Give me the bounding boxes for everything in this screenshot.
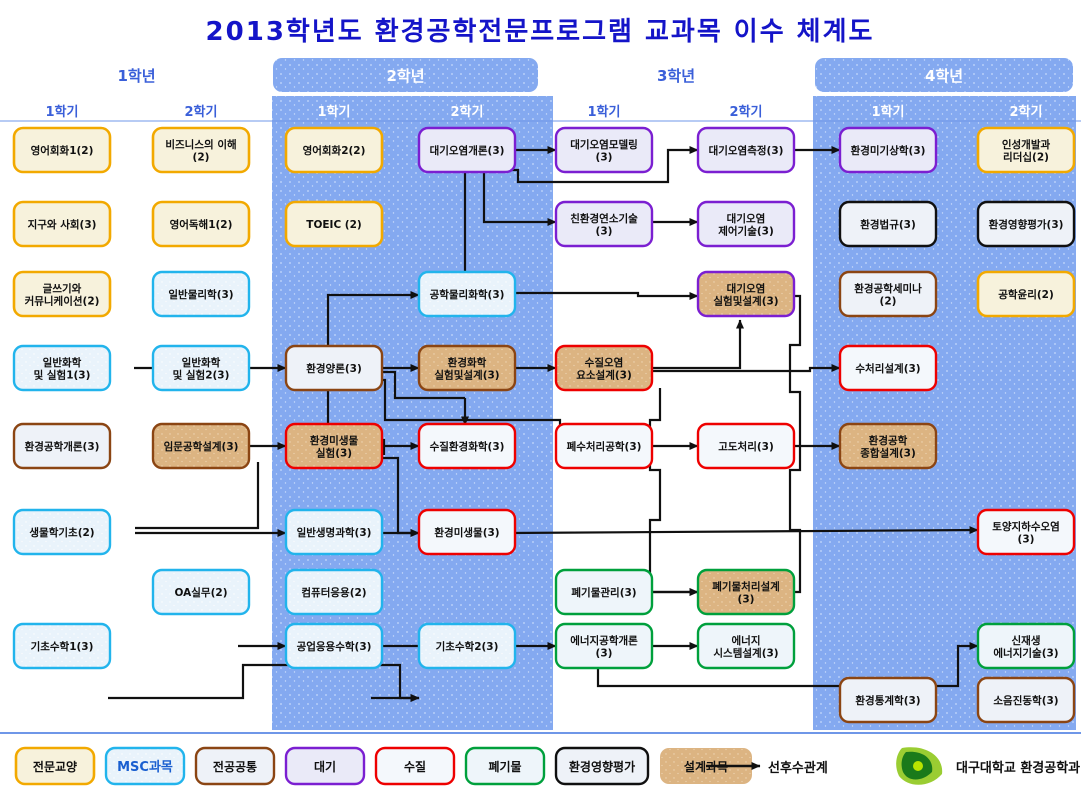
course-node-label: 환경법규(3) [860, 218, 916, 231]
course-node[interactable]: 영어독해1(2) [153, 202, 249, 246]
legend-label: 전문교양 [33, 759, 77, 774]
course-node-label: 환경영향평가(3) [989, 218, 1064, 231]
course-node[interactable]: 신재생에너지기술(3) [978, 624, 1074, 668]
course-node-label: 대기오염모델링 [570, 138, 638, 151]
semester-label-1: 1학기 [46, 104, 79, 120]
course-node-label: 커뮤니케이션(2) [25, 295, 100, 308]
legend-item[interactable]: 폐기물 [466, 748, 544, 784]
course-node-label: 제어기술(3) [718, 225, 774, 238]
course-node[interactable]: 영어회화1(2) [14, 128, 110, 172]
course-node-label: 수처리설계(3) [855, 362, 920, 375]
semester-label-4: 2학기 [451, 104, 484, 120]
course-node[interactable]: 일반화학및 실험1(3) [14, 346, 110, 390]
course-node-label: 일반물리학(3) [168, 288, 233, 301]
course-node-label: 비즈니스의 이해 [165, 138, 236, 151]
course-node[interactable]: 일반화학및 실험2(3) [153, 346, 249, 390]
course-node[interactable]: 토양지하수오염(3) [978, 510, 1074, 554]
year-label-4: 4학년 [925, 67, 963, 85]
course-node-label: 영어회화2(2) [303, 144, 366, 157]
legend-item[interactable]: 수질 [376, 748, 454, 784]
course-node-label: 일반생명과학(3) [297, 526, 372, 539]
course-node-label: 대기오염개론(3) [430, 144, 505, 157]
course-node[interactable]: 글쓰기와커뮤니케이션(2) [14, 272, 110, 316]
course-node[interactable]: 환경공학종합설계(3) [840, 424, 936, 468]
course-node[interactable]: 환경미기상학(3) [840, 128, 936, 172]
course-node-label: 대기오염 [727, 282, 766, 295]
course-node-label: 토양지하수오염 [992, 520, 1060, 533]
course-node-label: 신재생 [1012, 634, 1041, 647]
course-node[interactable]: 폐수처리공학(3) [556, 424, 652, 468]
course-node[interactable]: 친환경연소기술(3) [556, 202, 652, 246]
course-node-label: 수질환경화학(3) [430, 440, 505, 453]
course-node[interactable]: 고도처리(3) [698, 424, 794, 468]
course-node[interactable]: 환경양론(3) [286, 346, 382, 390]
year-label-3: 3학년 [657, 67, 695, 85]
legend-item[interactable]: 전공공통 [196, 748, 274, 784]
legend-label: 전공공통 [213, 759, 257, 774]
course-node[interactable]: 대기오염실험및설계(3) [698, 272, 794, 316]
course-node-label: 환경공학세미나 [854, 282, 922, 295]
course-node[interactable]: 대기오염제어기술(3) [698, 202, 794, 246]
course-node-label: 기초수학2(3) [436, 640, 499, 653]
course-node-label: OA실무(2) [175, 586, 228, 599]
course-node[interactable]: 공학윤리(2) [978, 272, 1074, 316]
legend: 전문교양MSC과목전공공통대기수질폐기물환경영향평가설계과목선후수관계대구대학교… [16, 747, 1080, 784]
legend-item[interactable]: 대기 [286, 748, 364, 784]
course-node[interactable]: 컴퓨터응용(2) [286, 570, 382, 614]
course-node-label: 에너지공학개론 [570, 634, 638, 647]
semester-label-3: 1학기 [318, 104, 351, 120]
course-node-label: 생물학기초(2) [29, 526, 94, 539]
year-label-2: 2학년 [386, 67, 424, 85]
course-node-label: 환경통계학(3) [855, 694, 920, 707]
course-node-label: 실험및설계(3) [434, 369, 499, 382]
course-node[interactable]: 환경통계학(3) [840, 678, 936, 722]
course-node[interactable]: 임문공학설계(3) [153, 424, 249, 468]
course-node-label: (3) [596, 152, 613, 164]
logo-dot [913, 761, 923, 771]
course-node-label: 수질오염 [585, 357, 624, 369]
course-node-label: 대기오염 [727, 212, 766, 225]
course-node-label: (3) [596, 226, 613, 238]
course-node-label: (3) [596, 648, 613, 660]
course-node-label: 환경미생물 [310, 434, 359, 447]
semester-label-5: 1학기 [588, 104, 621, 120]
course-node-label: 일반화학 [182, 356, 221, 369]
course-node-label: 지구와 사회(3) [28, 218, 97, 231]
university-logo: 대구대학교 환경공학과 [896, 747, 1080, 784]
course-node-label: (3) [1018, 534, 1035, 546]
course-node-label: 글쓰기와 [43, 282, 82, 295]
course-node-label: 요소설계(3) [576, 369, 632, 382]
semester-label-2: 2학기 [185, 104, 218, 120]
course-node-label: 공학윤리(2) [998, 288, 1054, 301]
course-node[interactable]: 환경공학세미나(2) [840, 272, 936, 316]
course-node[interactable]: 수질환경화학(3) [419, 424, 515, 468]
course-node[interactable]: 환경미생물(3) [419, 510, 515, 554]
semester-label-8: 2학기 [1010, 104, 1043, 120]
course-node[interactable]: 지구와 사회(3) [14, 202, 110, 246]
course-node[interactable]: 공학물리화학(3) [419, 272, 515, 316]
legend-label: 환경영향평가 [569, 759, 635, 774]
course-node-label: 폐수처리공학(3) [567, 440, 642, 453]
course-node-label: 인성개발과 [1002, 138, 1051, 151]
course-node-label: 환경화학 [448, 356, 487, 369]
course-node[interactable]: 비즈니스의 이해(2) [153, 128, 249, 172]
course-node[interactable]: 수처리설계(3) [840, 346, 936, 390]
course-node-label: 환경공학 [869, 434, 908, 447]
legend-arrow-label: 선후수관계 [768, 760, 828, 776]
course-node-label: (3) [738, 594, 755, 606]
course-node-label: 리더십(2) [1003, 151, 1049, 164]
page-title: 2013학년도 환경공학전문프로그램 교과목 이수 체계도 [206, 17, 875, 47]
course-node-label: 폐기물관리(3) [571, 586, 636, 599]
course-node[interactable]: 대기오염측정(3) [698, 128, 794, 172]
course-node[interactable]: 폐기물처리설계(3) [698, 570, 794, 614]
course-node-label: 환경미생물(3) [434, 526, 499, 539]
legend-item[interactable]: MSC과목 [106, 748, 184, 784]
course-node[interactable]: 공업응용수학(3) [286, 624, 382, 668]
course-node-label: 환경공학개론(3) [25, 440, 100, 453]
course-node-label: 공학물리화학(3) [430, 288, 505, 301]
course-node-label: 환경미기상학(3) [851, 144, 926, 157]
course-node[interactable]: 일반생명과학(3) [286, 510, 382, 554]
course-node[interactable]: 환경미생물실험(3) [286, 424, 382, 468]
course-node-label: 및 실험2(3) [173, 369, 230, 382]
course-node[interactable]: 소음진동학(3) [978, 678, 1074, 722]
course-node-label: 영어독해1(2) [170, 218, 233, 231]
course-node-label: 및 실험1(3) [34, 369, 91, 382]
course-node-label: 환경양론(3) [306, 362, 362, 375]
course-node-label: 실험(3) [316, 447, 352, 460]
course-node-label: 실험및설계(3) [713, 295, 778, 308]
legend-label: 수질 [404, 760, 426, 774]
course-node[interactable]: 인성개발과리더십(2) [978, 128, 1074, 172]
course-node[interactable]: TOEIC (2) [286, 202, 382, 246]
course-node-label: 고도처리(3) [718, 440, 774, 453]
course-node[interactable]: 대기오염개론(3) [419, 128, 515, 172]
semester-label-7: 1학기 [872, 104, 905, 120]
course-node-label: 기초수학1(3) [31, 640, 94, 653]
course-node-label: 에너지 [732, 634, 761, 647]
semester-background-bands [272, 96, 1076, 730]
year-header-row: 1학년2학년3학년4학년 [117, 58, 1073, 92]
course-node[interactable]: 수질오염요소설계(3) [556, 346, 652, 390]
semester-label-6: 2학기 [730, 104, 763, 120]
course-node[interactable]: 대기오염모델링(3) [556, 128, 652, 172]
legend-item[interactable]: 전문교양 [16, 748, 94, 784]
course-node-label: 영어회화1(2) [31, 144, 94, 157]
course-node[interactable]: 환경영향평가(3) [978, 202, 1074, 246]
course-node[interactable]: 환경화학실험및설계(3) [419, 346, 515, 390]
course-node[interactable]: 영어회화2(2) [286, 128, 382, 172]
course-node[interactable]: 일반물리학(3) [153, 272, 249, 316]
course-node[interactable]: 에너지공학개론(3) [556, 624, 652, 668]
course-node-label: 일반화학 [43, 356, 82, 369]
course-node[interactable]: 에너지시스템설계(3) [698, 624, 794, 668]
course-node[interactable]: OA실무(2) [153, 570, 249, 614]
course-node-label: 에너지기술(3) [993, 647, 1058, 660]
course-node-label: 종합설계(3) [860, 447, 916, 460]
year-label-1: 1학년 [117, 67, 155, 85]
course-node-label: TOEIC (2) [306, 219, 361, 231]
legend-item[interactable]: 환경영향평가 [556, 748, 648, 784]
course-node-label: (2) [880, 296, 897, 308]
legend-label: MSC과목 [117, 760, 173, 775]
course-node[interactable]: 생물학기초(2) [14, 510, 110, 554]
university-name: 대구대학교 환경공학과 [956, 760, 1080, 776]
course-node[interactable]: 기초수학1(3) [14, 624, 110, 668]
course-node-label: 공업응용수학(3) [297, 640, 372, 653]
course-node-label: 컴퓨터응용(2) [301, 586, 366, 599]
course-node-label: 시스템설계(3) [713, 647, 778, 660]
course-node-label: 대기오염측정(3) [709, 144, 784, 157]
curriculum-flowchart: 2013학년도 환경공학전문프로그램 교과목 이수 체계도 1학년2학년3학년4… [0, 0, 1081, 794]
course-node[interactable]: 환경공학개론(3) [14, 424, 110, 468]
legend-label: 폐기물 [488, 759, 521, 774]
course-node-label: 폐기물처리설계 [712, 580, 780, 593]
course-node[interactable]: 폐기물관리(3) [556, 570, 652, 614]
course-node-label: (2) [193, 152, 210, 164]
course-node-label: 소음진동학(3) [993, 694, 1058, 707]
diagram-stage: 2013학년도 환경공학전문프로그램 교과목 이수 체계도 1학년2학년3학년4… [0, 0, 1081, 794]
legend-label: 대기 [314, 759, 336, 774]
course-node-label: 친환경연소기술 [570, 212, 638, 225]
course-node-label: 임문공학설계(3) [164, 440, 239, 453]
course-node[interactable]: 기초수학2(3) [419, 624, 515, 668]
course-node[interactable]: 환경법규(3) [840, 202, 936, 246]
